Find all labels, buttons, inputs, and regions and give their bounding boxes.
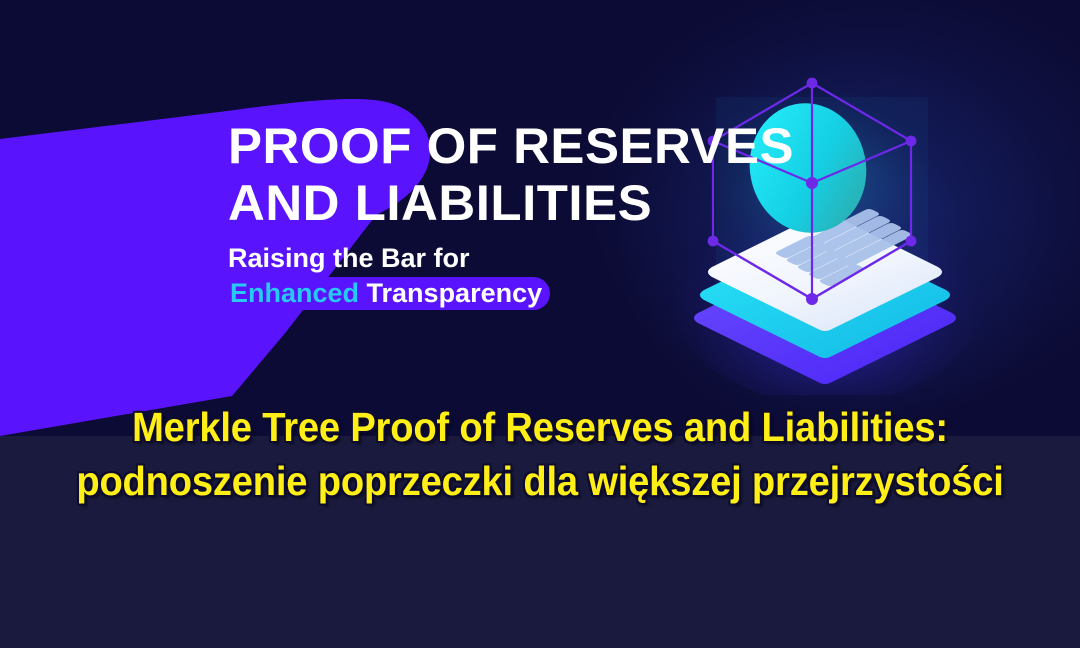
caption-band: Merkle Tree Proof of Reserves and Liabil… — [0, 436, 1080, 648]
page-title-line-1: PROOF OF RESERVES — [228, 118, 840, 175]
subtitle-accent-word: Enhanced — [230, 278, 367, 308]
subtitle-line-1: Raising the Bar for — [228, 242, 828, 274]
subtitle-pill: Enhanced Transparency — [228, 276, 542, 310]
subtitle-line-2: Enhanced Transparency — [228, 276, 542, 310]
poster-canvas: PROOF OF RESERVES AND LIABILITIES Raisin… — [0, 0, 1080, 648]
hero-text-block: PROOF OF RESERVES AND LIABILITIES Raisin… — [228, 118, 828, 310]
page-title-line-2: AND LIABILITIES — [228, 175, 840, 232]
caption-line-2: podnoszenie poprzeczki dla większej prze… — [38, 454, 1042, 508]
hero-banner: PROOF OF RESERVES AND LIABILITIES Raisin… — [0, 0, 1080, 436]
subtitle-rest-word: Transparency — [367, 278, 543, 308]
